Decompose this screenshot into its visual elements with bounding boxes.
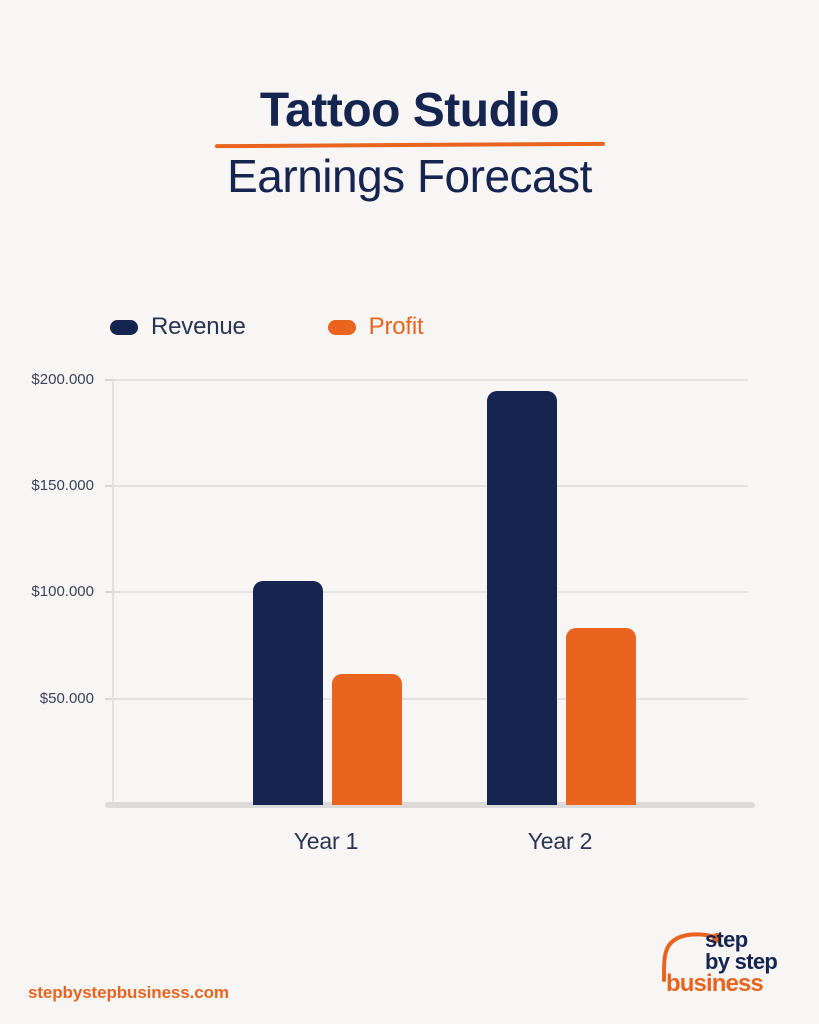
brand-logo[interactable]: step by step business xyxy=(661,928,791,1004)
gridline-200000 xyxy=(113,379,748,381)
logo-line-by-step: by step xyxy=(705,951,777,973)
x-axis-label-year-1: Year 1 xyxy=(246,828,406,855)
gridline-100000 xyxy=(113,591,748,593)
gridline-150000 xyxy=(113,485,748,487)
bar-year2-profit[interactable] xyxy=(566,628,636,805)
x-axis-baseline xyxy=(105,802,755,808)
y-axis-line xyxy=(112,380,114,805)
y-axis-label-150000: $150.000 xyxy=(31,477,94,494)
logo-line-business: business xyxy=(666,972,777,996)
bar-year2-revenue[interactable] xyxy=(487,391,557,805)
bar-year1-revenue[interactable] xyxy=(253,581,323,805)
y-axis-label-100000: $100.000 xyxy=(31,583,94,600)
footer-website-url[interactable]: stepbystepbusiness.com xyxy=(28,983,229,1003)
y-axis-label-50000: $50.000 xyxy=(40,690,94,707)
logo-line-step: step xyxy=(705,929,777,951)
y-axis-label-200000: $200.000 xyxy=(31,371,94,388)
x-axis-label-year-2: Year 2 xyxy=(480,828,640,855)
logo-wordmark: step by step business xyxy=(705,929,777,996)
bar-year1-profit[interactable] xyxy=(332,674,402,805)
gridline-50000 xyxy=(113,698,748,700)
bar-chart-plot: $200.000 $150.000 $100.000 $50.000 Year … xyxy=(0,0,819,1024)
